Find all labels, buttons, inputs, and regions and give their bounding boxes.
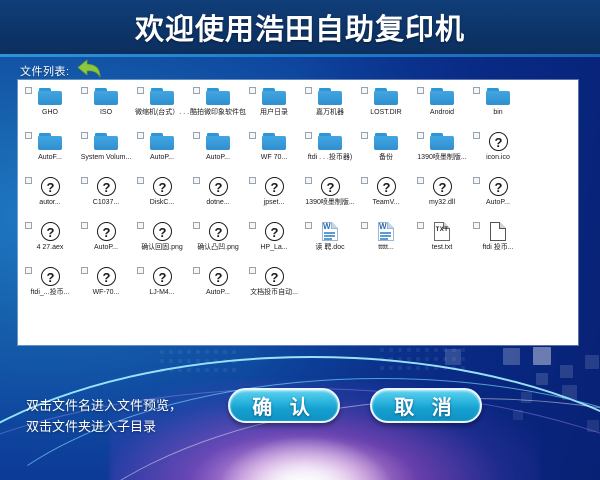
file-list-label: 文件列表: — [20, 63, 70, 79]
file-item-checkbox[interactable] — [25, 177, 32, 184]
file-item-checkbox[interactable] — [249, 87, 256, 94]
file-item[interactable]: AutoP... — [190, 264, 246, 309]
file-item-checkbox[interactable] — [25, 132, 32, 139]
file-item[interactable]: C1037... — [78, 174, 134, 219]
unknown-file-icon — [201, 221, 235, 243]
file-item[interactable]: 1390喷墨制版... — [414, 129, 470, 174]
file-item-label: 4 27.aex — [22, 244, 78, 252]
file-item[interactable]: 1390喷墨制版... — [302, 174, 358, 219]
file-item-label: ttttt... — [358, 244, 414, 252]
file-item-checkbox[interactable] — [361, 132, 368, 139]
file-item-label: TeamV... — [358, 199, 414, 207]
file-item[interactable]: 嘉万机器 — [302, 84, 358, 129]
folder-icon — [145, 131, 179, 153]
file-item-label: WF 70... — [246, 154, 302, 162]
file-item-label: AutoF... — [22, 154, 78, 162]
file-item[interactable]: DiskC... — [134, 174, 190, 219]
file-item-checkbox[interactable] — [193, 222, 200, 229]
folder-icon — [481, 86, 515, 108]
file-item-label: AutoP... — [190, 289, 246, 297]
file-item-label: System Volum... — [78, 154, 134, 162]
file-item-label: 备份 — [358, 154, 414, 162]
file-item[interactable]: 文档投币自动... — [246, 264, 302, 309]
file-item[interactable]: ftdi . . .投币器) — [302, 129, 358, 174]
file-item[interactable]: 微缩机(台式）. . . — [134, 84, 190, 129]
file-item-checkbox[interactable] — [137, 132, 144, 139]
file-item[interactable]: Wttttt... — [358, 219, 414, 264]
copier-kiosk-screen: 欢迎使用浩田自助复印机 文件列表: GHOISO微缩机(台式）. . .酷拍微印… — [0, 0, 600, 480]
file-item-checkbox[interactable] — [417, 87, 424, 94]
file-item[interactable]: 用户日录 — [246, 84, 302, 129]
file-item-checkbox[interactable] — [249, 177, 256, 184]
file-item-checkbox[interactable] — [81, 222, 88, 229]
unknown-file-icon — [145, 266, 179, 288]
file-grid: GHOISO微缩机(台式）. . .酷拍微印象软件包用户日录嘉万机器LOST.D… — [22, 84, 576, 309]
text-file-icon: TXT — [425, 221, 459, 243]
file-item-checkbox[interactable] — [137, 222, 144, 229]
file-item[interactable]: 酷拍微印象软件包 — [190, 84, 246, 129]
file-item-checkbox[interactable] — [305, 132, 312, 139]
folder-icon — [369, 131, 403, 153]
file-item-label: LOST.DIR — [358, 109, 414, 117]
file-item-label: LJ-M4... — [134, 289, 190, 297]
unknown-file-icon — [257, 176, 291, 198]
unknown-file-icon — [145, 176, 179, 198]
file-item-checkbox[interactable] — [81, 267, 88, 274]
file-item-checkbox[interactable] — [361, 177, 368, 184]
file-item[interactable]: 确认凸凹.png — [190, 219, 246, 264]
folder-icon — [33, 86, 67, 108]
folder-icon — [257, 86, 291, 108]
unknown-file-icon — [257, 221, 291, 243]
folder-icon — [313, 131, 347, 153]
file-item-checkbox[interactable] — [417, 222, 424, 229]
file-item-label: my32.dll — [414, 199, 470, 207]
file-item-checkbox[interactable] — [137, 87, 144, 94]
file-item[interactable]: ISO — [78, 84, 134, 129]
file-item-checkbox[interactable] — [25, 222, 32, 229]
file-item-label: GHO — [22, 109, 78, 117]
file-item-label: AutoP... — [470, 199, 526, 207]
unknown-file-icon — [201, 266, 235, 288]
file-item-checkbox[interactable] — [193, 177, 200, 184]
file-item[interactable]: ftdi_...投币... — [22, 264, 78, 309]
file-item-label: 确认回固.png — [134, 244, 190, 252]
file-item[interactable]: HP_La... — [246, 219, 302, 264]
folder-icon — [257, 131, 291, 153]
unknown-file-icon — [481, 131, 515, 153]
folder-icon — [425, 86, 459, 108]
folder-icon — [425, 131, 459, 153]
file-item-checkbox[interactable] — [305, 87, 312, 94]
folder-icon — [313, 86, 347, 108]
page-title: 欢迎使用浩田自助复印机 — [0, 0, 600, 54]
file-item-label: autor... — [22, 199, 78, 207]
file-item-checkbox[interactable] — [81, 132, 88, 139]
file-item[interactable]: AutoP... — [190, 129, 246, 174]
file-item-checkbox[interactable] — [193, 87, 200, 94]
file-item-label: 文档投币自动... — [246, 289, 302, 297]
file-item-label: jpset... — [246, 199, 302, 207]
usage-hint-line2: 双击文件夹进入子目录 — [26, 416, 236, 437]
file-item-checkbox[interactable] — [25, 87, 32, 94]
file-item-label: 读 聘.doc — [302, 244, 358, 252]
file-item-label: dotne... — [190, 199, 246, 207]
folder-icon — [369, 86, 403, 108]
unknown-file-icon — [145, 221, 179, 243]
file-item-checkbox[interactable] — [249, 267, 256, 274]
file-item-label: DiskC... — [134, 199, 190, 207]
file-item[interactable]: WF 70... — [246, 129, 302, 174]
unknown-file-icon — [89, 266, 123, 288]
file-item-checkbox[interactable] — [81, 87, 88, 94]
file-item-checkbox[interactable] — [81, 177, 88, 184]
folder-icon — [33, 131, 67, 153]
confirm-button[interactable]: 确 认 — [228, 388, 340, 423]
unknown-file-icon — [481, 176, 515, 198]
file-item-checkbox[interactable] — [473, 222, 480, 229]
file-item-checkbox[interactable] — [417, 132, 424, 139]
file-item[interactable]: LOST.DIR — [358, 84, 414, 129]
file-item[interactable]: 4 27.aex — [22, 219, 78, 264]
unknown-file-icon — [33, 266, 67, 288]
folder-icon — [201, 131, 235, 153]
back-arrow-icon[interactable] — [74, 58, 104, 80]
cancel-button[interactable]: 取 消 — [370, 388, 482, 423]
file-item[interactable]: AutoP... — [78, 219, 134, 264]
file-item-checkbox[interactable] — [305, 177, 312, 184]
file-item[interactable]: autor... — [22, 174, 78, 219]
file-item-label: 1390喷墨制版... — [302, 199, 358, 207]
file-item[interactable]: ftdi 投币... — [470, 219, 526, 264]
file-item-label: 微缩机(台式）. . . — [134, 109, 190, 117]
file-item-label: AutoP... — [78, 244, 134, 252]
file-item[interactable]: TeamV... — [358, 174, 414, 219]
unknown-file-icon — [89, 176, 123, 198]
file-item-label: 1390喷墨制版... — [414, 154, 470, 162]
file-item[interactable]: AutoP... — [134, 129, 190, 174]
file-item-label: Android — [414, 109, 470, 117]
file-item[interactable]: AutoP... — [470, 174, 526, 219]
unknown-file-icon — [33, 221, 67, 243]
file-item-label: ISO — [78, 109, 134, 117]
file-item-checkbox[interactable] — [305, 222, 312, 229]
file-list-panel: GHOISO微缩机(台式）. . .酷拍微印象软件包用户日录嘉万机器LOST.D… — [18, 80, 578, 345]
usage-hint-line1: 双击文件名进入文件预览， — [26, 395, 236, 416]
unknown-file-icon — [257, 266, 291, 288]
word-doc-icon: W — [313, 221, 347, 243]
file-item-checkbox[interactable] — [473, 87, 480, 94]
unknown-file-icon — [313, 176, 347, 198]
file-item[interactable]: System Volum... — [78, 129, 134, 174]
folder-icon — [201, 86, 235, 108]
file-item-label: ftdi . . .投币器) — [302, 154, 358, 162]
file-item-checkbox[interactable] — [249, 222, 256, 229]
file-item-label: 酷拍微印象软件包 — [190, 109, 246, 117]
file-item-label: 用户日录 — [246, 109, 302, 117]
unknown-file-icon — [369, 176, 403, 198]
file-item-checkbox[interactable] — [361, 87, 368, 94]
file-item[interactable]: GHO — [22, 84, 78, 129]
file-item-checkbox[interactable] — [137, 267, 144, 274]
file-item-label: AutoP... — [134, 154, 190, 162]
file-item[interactable]: jpset... — [246, 174, 302, 219]
file-item-label: test.txt — [414, 244, 470, 252]
unknown-file-icon — [33, 176, 67, 198]
file-item[interactable]: 备份 — [358, 129, 414, 174]
file-item-checkbox[interactable] — [25, 267, 32, 274]
header-underline — [0, 54, 600, 57]
file-item[interactable]: LJ-M4... — [134, 264, 190, 309]
file-item-label: ftdi_...投币... — [22, 289, 78, 297]
file-item-checkbox[interactable] — [193, 267, 200, 274]
file-item[interactable]: WF-70... — [78, 264, 134, 309]
file-item[interactable]: W读 聘.doc — [302, 219, 358, 264]
file-item-checkbox[interactable] — [137, 177, 144, 184]
file-item-checkbox[interactable] — [473, 132, 480, 139]
unknown-file-icon — [201, 176, 235, 198]
file-item[interactable]: bin — [470, 84, 526, 129]
file-item-label: icon.ico — [470, 154, 526, 162]
file-item-checkbox[interactable] — [473, 177, 480, 184]
file-item-label: bin — [470, 109, 526, 117]
file-item-label: ftdi 投币... — [470, 244, 526, 252]
file-item-label: HP_La... — [246, 244, 302, 252]
unknown-file-icon — [89, 221, 123, 243]
file-item[interactable]: TXTtest.txt — [414, 219, 470, 264]
unknown-file-icon — [425, 176, 459, 198]
file-item-checkbox[interactable] — [417, 177, 424, 184]
file-item-label: 确认凸凹.png — [190, 244, 246, 252]
file-item-checkbox[interactable] — [193, 132, 200, 139]
file-item-label: 嘉万机器 — [302, 109, 358, 117]
word-doc-icon: W — [369, 221, 403, 243]
file-item-label: WF-70... — [78, 289, 134, 297]
file-item[interactable]: AutoF... — [22, 129, 78, 174]
file-item[interactable]: Android — [414, 84, 470, 129]
file-item-label: C1037... — [78, 199, 134, 207]
folder-icon — [89, 86, 123, 108]
usage-hint: 双击文件名进入文件预览， 双击文件夹进入子目录 — [26, 395, 236, 437]
file-item-checkbox[interactable] — [249, 132, 256, 139]
file-item-checkbox[interactable] — [361, 222, 368, 229]
folder-icon — [145, 86, 179, 108]
file-item[interactable]: dotne... — [190, 174, 246, 219]
blank-page-icon — [481, 221, 515, 243]
folder-icon — [89, 131, 123, 153]
file-item[interactable]: 确认回固.png — [134, 219, 190, 264]
file-item[interactable]: my32.dll — [414, 174, 470, 219]
file-item-label: AutoP... — [190, 154, 246, 162]
file-item[interactable]: icon.ico — [470, 129, 526, 174]
